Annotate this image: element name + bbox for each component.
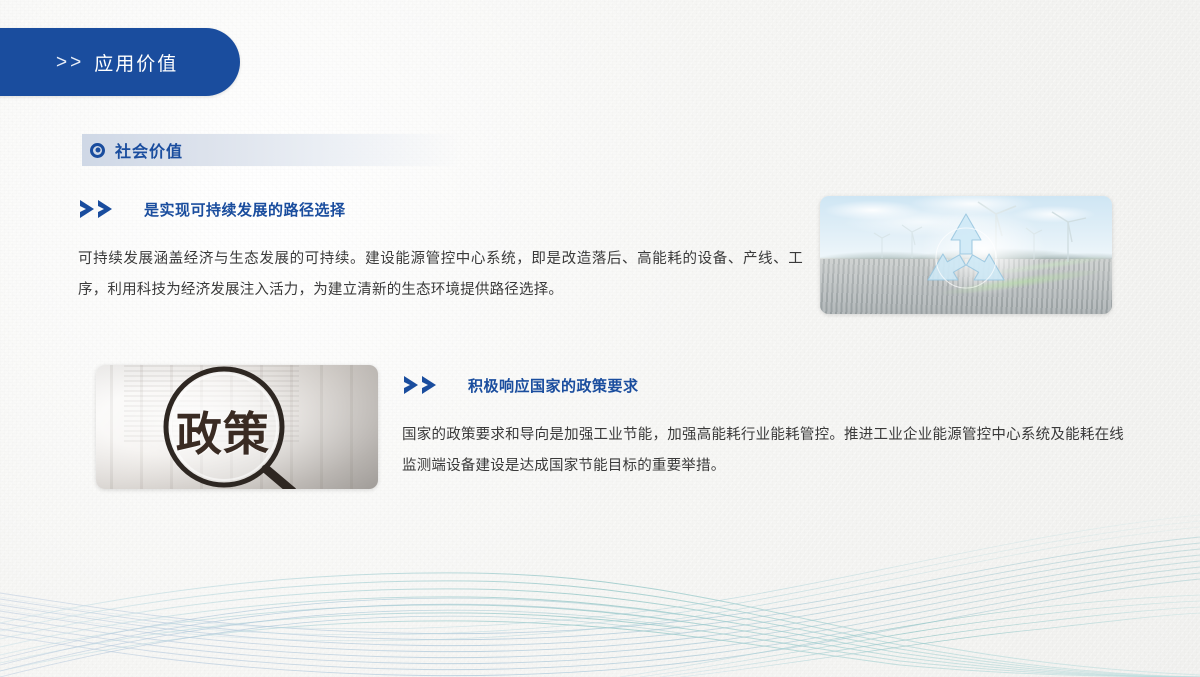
double-chevron-icon	[78, 199, 122, 219]
eco-wind-recycle-photo	[820, 196, 1112, 314]
double-chevron-icon	[402, 375, 446, 395]
content-block-sustainable: 是实现可持续发展的路径选择 可持续发展涵盖经济与生态发展的可持续。建设能源管控中…	[78, 196, 803, 306]
page-title: 应用价值	[94, 49, 178, 76]
block-heading: 积极响应国家的政策要求	[468, 375, 639, 396]
bottom-ribbon-wave	[0, 487, 1200, 677]
chevron-right-double-icon: >>	[56, 53, 84, 72]
policy-magnifier-photo: 政策	[96, 365, 378, 489]
block-body-text: 国家的政策要求和导向是加强工业节能，加强高能耗行业能耗管控。推进工业企业能源管控…	[402, 420, 1124, 482]
block-heading-row: 积极响应国家的政策要求	[402, 372, 1124, 398]
section-header: 社会价值	[82, 134, 462, 166]
slide-canvas: >> 应用价值 社会价值 是实现可持续发展的路径选择 可持续发展涵盖经济与生态发…	[0, 0, 1200, 677]
paper-texture-overlay	[0, 0, 1200, 677]
section-header-label: 社会价值	[115, 138, 183, 162]
ring-circle-icon	[90, 143, 105, 158]
block-heading-row: 是实现可持续发展的路径选择	[78, 196, 803, 222]
photo-word-policy: 政策	[158, 398, 288, 462]
title-tab: >> 应用价值	[0, 28, 240, 96]
block-heading: 是实现可持续发展的路径选择	[144, 199, 346, 220]
block-body-text: 可持续发展涵盖经济与生态发展的可持续。建设能源管控中心系统，即是改造落后、高能耗…	[78, 244, 803, 306]
content-block-policy: 积极响应国家的政策要求 国家的政策要求和导向是加强工业节能，加强高能耗行业能耗管…	[402, 372, 1124, 482]
